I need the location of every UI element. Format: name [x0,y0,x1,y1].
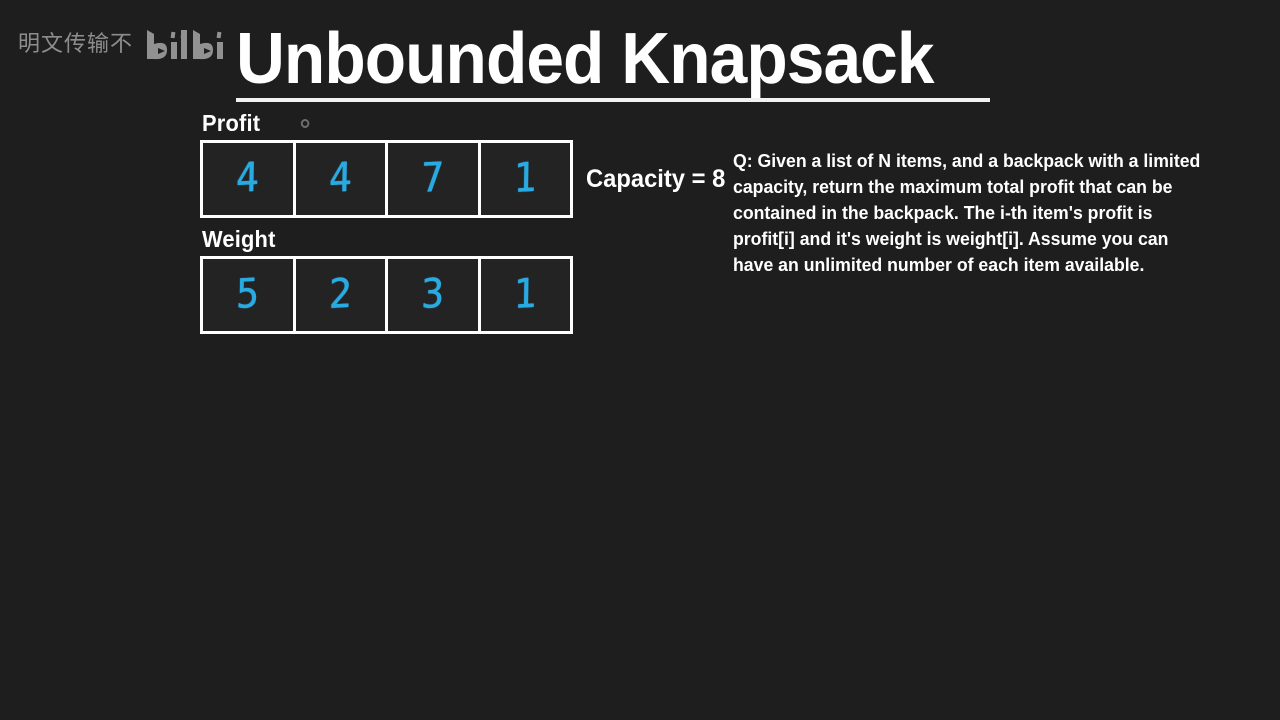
title-block: Unbounded Knapsack [236,22,978,96]
weight-value-0: 5 [236,274,260,316]
profit-array-label: Profit [202,110,554,137]
cursor-dot-icon [301,119,310,128]
weight-value-3: 1 [513,274,537,316]
weight-cell-3[interactable]: 1 [481,259,571,331]
weight-value-2: 3 [421,274,445,316]
profit-array-row: 4 4 7 1 [200,140,573,218]
weight-cell-0[interactable]: 5 [203,259,296,331]
watermark-text: 明文传输不 [18,34,133,56]
profit-value-2: 7 [421,158,445,200]
profit-cell-0[interactable]: 4 [203,143,296,215]
profit-value-1: 4 [328,158,352,200]
profit-array-block: Profit 4 4 7 1 [200,110,573,218]
watermark: 明文传输不 [18,28,229,62]
weight-cell-2[interactable]: 3 [388,259,481,331]
question-text: Q: Given a list of N items, and a backpa… [733,148,1211,278]
bilibili-logo-icon [143,28,229,62]
slide-canvas: 明文传输不 Unboun [0,0,1280,720]
arrays-section: Profit 4 4 7 1 Weight [200,110,573,334]
capacity-label: Capacity = 8 [586,165,725,193]
weight-label-text: Weight [202,226,276,252]
profit-value-3: 1 [513,158,537,200]
profit-cell-2[interactable]: 7 [388,143,481,215]
page-title: Unbounded Knapsack [236,22,934,96]
weight-array-label: Weight [202,226,554,253]
title-underline [236,98,990,102]
weight-cell-1[interactable]: 2 [296,259,389,331]
profit-cell-3[interactable]: 1 [481,143,571,215]
weight-array-block: Weight 5 2 3 1 [200,226,573,334]
weight-value-1: 2 [328,274,352,316]
weight-array-row: 5 2 3 1 [200,256,573,334]
profit-label-text: Profit [202,110,260,136]
profit-value-0: 4 [236,158,260,200]
profit-cell-1[interactable]: 4 [296,143,389,215]
